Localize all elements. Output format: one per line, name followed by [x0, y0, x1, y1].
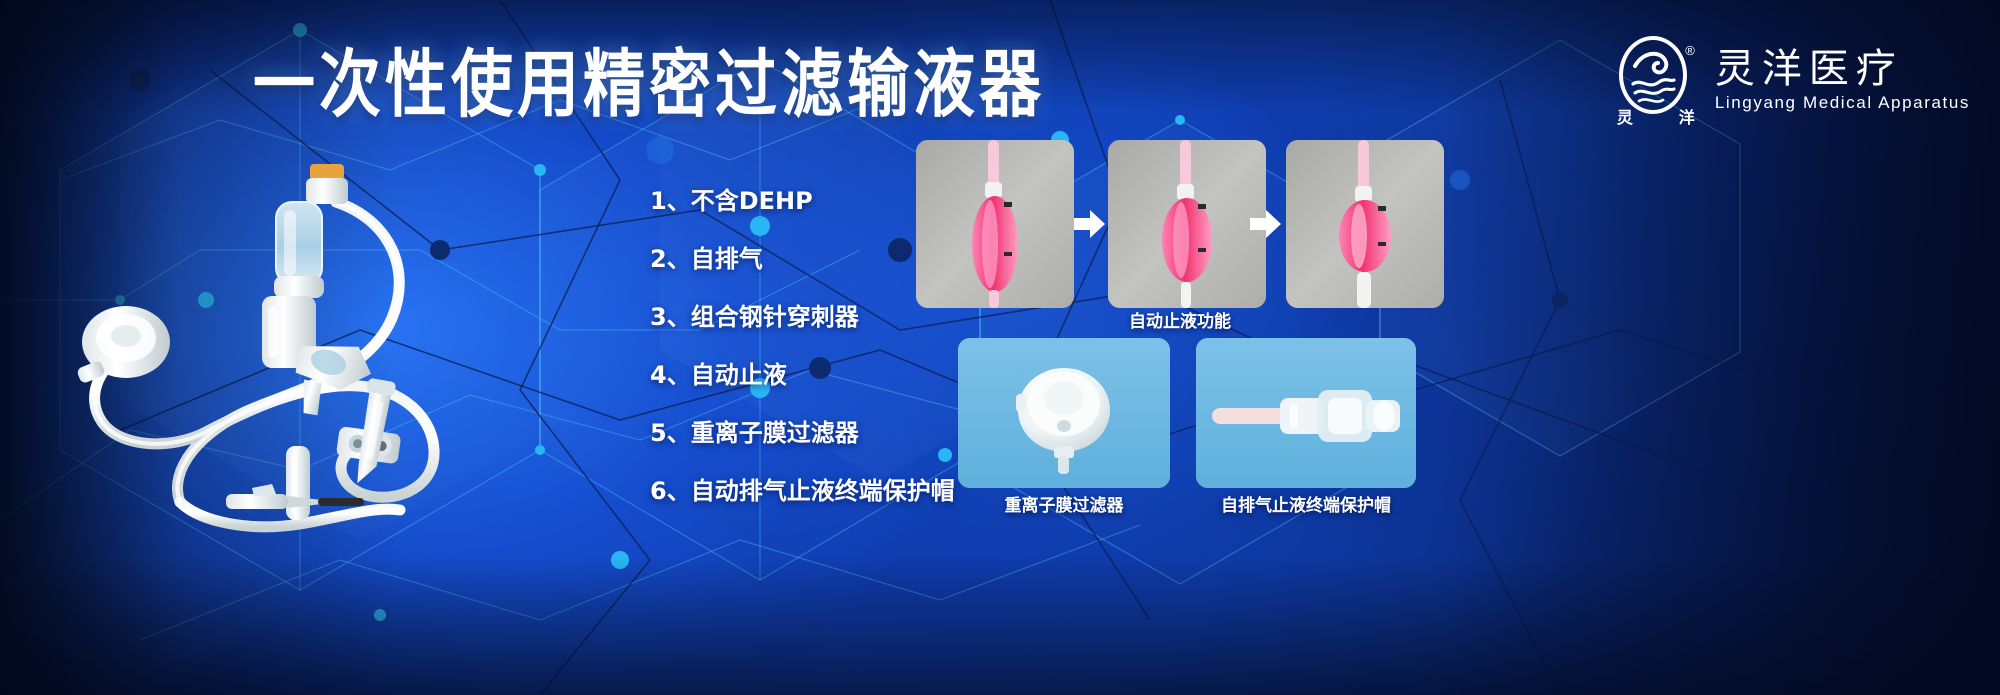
- logo-mark-label-left: 灵: [1617, 104, 1633, 128]
- registered-mark: ®: [1685, 44, 1695, 57]
- detail-photo-cap: [1196, 338, 1416, 488]
- brand-name-cn: 灵洋医疗: [1715, 48, 1970, 90]
- demo-photo-3: [1286, 140, 1444, 308]
- brand-logo: ® 灵 洋 灵洋医疗 Lingyang Medical Apparatus: [1613, 36, 1970, 122]
- product-photo: [40, 150, 660, 550]
- brand-name-en: Lingyang Medical Apparatus: [1715, 94, 1970, 111]
- page-title: 一次性使用精密过滤输液器: [253, 48, 1045, 121]
- logo-mark-label-right: 洋: [1679, 104, 1695, 128]
- demo-photo-1: [916, 140, 1074, 308]
- banner-background: 一次性使用精密过滤输液器 ® 灵 洋 灵洋医疗 Lingyang Medical…: [0, 0, 2000, 695]
- detail-photo-filter: [958, 338, 1170, 488]
- feature-item-5: 5、重离子膜过滤器: [650, 404, 980, 462]
- arrow-right-icon: [1248, 208, 1282, 240]
- oval-wave-emblem-icon: ® 灵 洋: [1613, 36, 1699, 122]
- feature-item-6: 6、自动排气止液终端保护帽: [650, 462, 980, 520]
- arrow-right-icon: [1072, 208, 1106, 240]
- detail-caption-cap: 自排气止液终端保护帽: [1196, 498, 1416, 515]
- demo-caption: 自动止液功能: [916, 314, 1444, 331]
- demo-photo-2: [1108, 140, 1266, 308]
- feature-item-4: 4、自动止液: [650, 346, 980, 404]
- detail-caption-filter: 重离子膜过滤器: [958, 498, 1170, 515]
